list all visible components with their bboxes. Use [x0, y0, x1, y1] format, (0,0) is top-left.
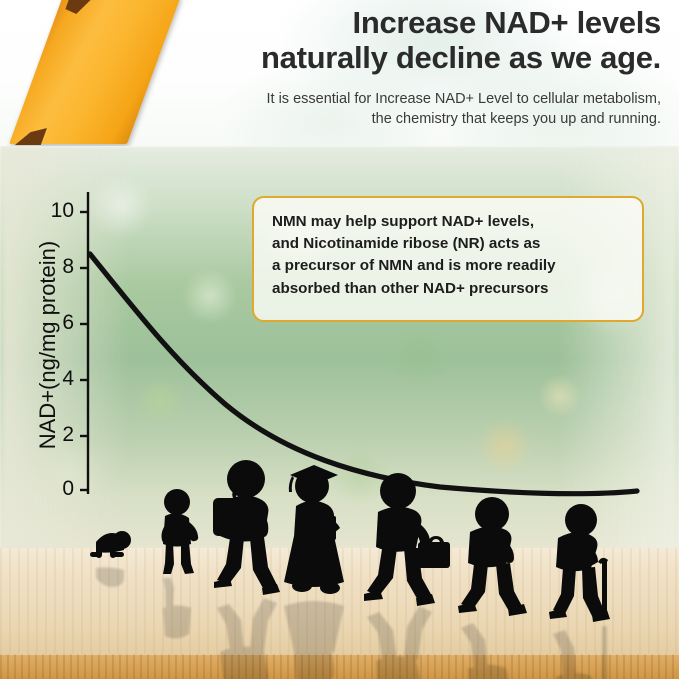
- book-icon: [327, 516, 336, 540]
- backpack-icon: [213, 498, 239, 536]
- reflection-crawling-baby: [96, 567, 124, 587]
- page-title-line-1: Increase NAD+ levels: [353, 5, 662, 40]
- figure-hunched-adult: [458, 497, 527, 616]
- reflection-elderly: [553, 626, 607, 679]
- page-subtitle-line-2: the chemistry that keeps you up and runn…: [161, 110, 661, 130]
- figure-toddler: [162, 489, 199, 574]
- figure-student-with-backpack: [213, 460, 280, 595]
- page-title: Increase NAD+ levels naturally decline a…: [231, 6, 661, 75]
- reflection-student: [217, 598, 277, 679]
- reflection-toddler: [163, 578, 191, 639]
- cane-icon: [602, 560, 607, 618]
- reflection-businessman: [367, 606, 432, 679]
- reflection-graduate: [284, 601, 344, 679]
- header-banner: Increase NAD+ levels naturally decline a…: [0, 0, 679, 146]
- life-stage-figures: [0, 146, 679, 679]
- scene-stage: NAD+(ng/mg protein) 10 8 6 4 2 0 NMN may…: [0, 146, 679, 679]
- tassel-icon: [289, 476, 294, 492]
- ribbon-graphic: [9, 0, 181, 144]
- page-title-line-2: naturally decline as we age.: [231, 41, 661, 76]
- infographic-root: Increase NAD+ levels naturally decline a…: [0, 0, 679, 679]
- page-subtitle: It is essential for Increase NAD+ Level …: [161, 90, 661, 129]
- figure-businessman-with-briefcase: [364, 473, 450, 606]
- figure-elderly-with-cane: [549, 504, 610, 622]
- page-subtitle-line-1: It is essential for Increase NAD+ Level …: [161, 90, 661, 110]
- briefcase-icon: [418, 542, 450, 568]
- figure-crawling-baby: [90, 531, 131, 558]
- figure-graduate-with-book: [284, 465, 344, 594]
- reflection-hunched-adult: [461, 623, 511, 679]
